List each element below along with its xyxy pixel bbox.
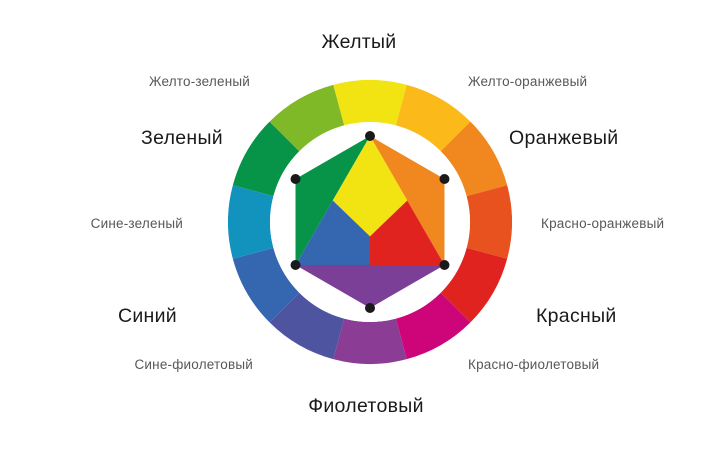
vertex-marker-red	[439, 260, 449, 270]
vertex-marker-violet	[365, 303, 375, 313]
vertex-marker-blue	[291, 260, 301, 270]
label-yellow: Желтый	[322, 31, 397, 54]
label-red-violet: Красно-фиолетовый	[468, 357, 599, 372]
vertex-marker-orange	[439, 174, 449, 184]
label-blue: Синий	[118, 305, 177, 328]
ring-segment-red-orange	[467, 185, 512, 259]
label-blue-violet: Сине-фиолетовый	[134, 357, 253, 372]
color-wheel-graphic	[228, 72, 512, 372]
label-yellow-green: Желто-зеленый	[149, 74, 250, 89]
label-green: Зеленый	[141, 127, 223, 150]
ring-segment-blue-green	[228, 185, 273, 259]
label-red-orange: Красно-оранжевый	[541, 216, 664, 231]
label-orange: Оранжевый	[509, 127, 618, 150]
color-wheel-diagram: Желтый Желто-зеленый Желто-оранжевый Зел…	[0, 0, 728, 451]
label-violet: Фиолетовый	[308, 395, 424, 418]
vertex-marker-yellow	[365, 131, 375, 141]
label-yellow-orange: Желто-оранжевый	[468, 74, 587, 89]
ring-segment-yellow	[333, 80, 407, 125]
vertex-marker-green	[291, 174, 301, 184]
label-red: Красный	[536, 305, 617, 328]
label-blue-green: Сине-зеленый	[91, 216, 183, 231]
ring-segment-violet	[333, 319, 407, 364]
